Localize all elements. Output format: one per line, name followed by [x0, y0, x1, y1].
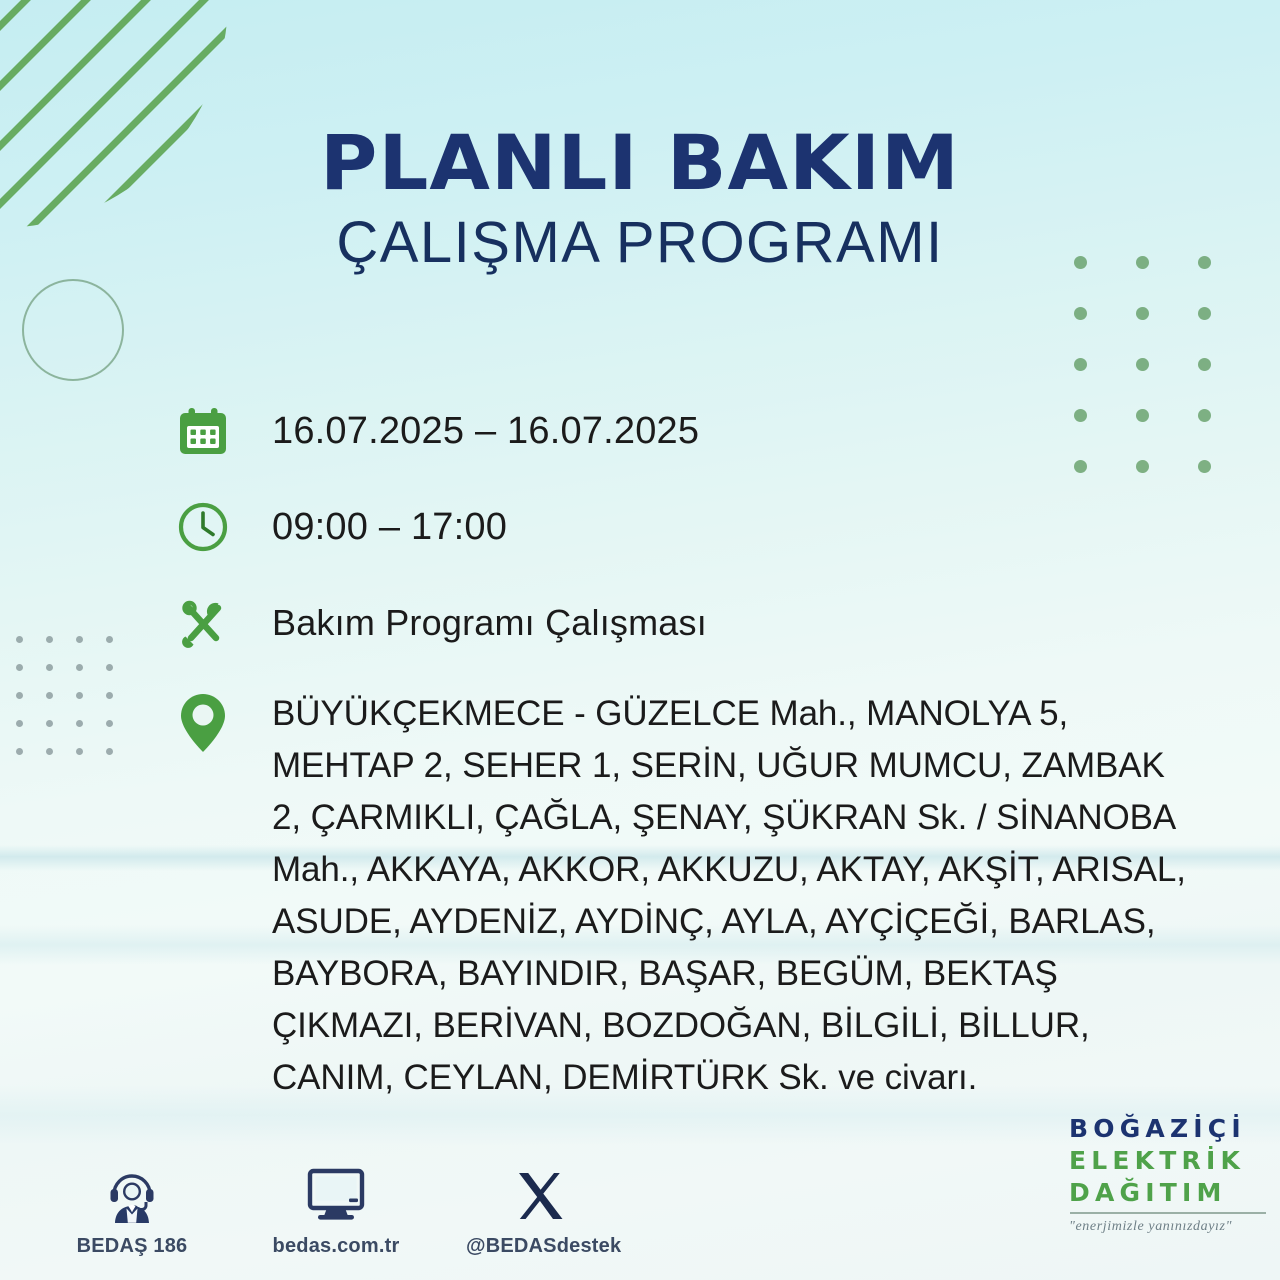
title-main: PLANLI BAKIM: [0, 126, 1280, 200]
address-text: BÜYÜKÇEKMECE - GÜZELCE Mah., MANOLYA 5, …: [234, 688, 1212, 1104]
page-title: PLANLI BAKIM ÇALIŞMA PROGRAMI: [0, 126, 1280, 277]
address-line: BÜYÜKÇEKMECE - GÜZELCE Mah., MANOLYA 5,: [272, 688, 1212, 740]
address-line: ÇIKMAZI, BERİVAN, BOZDOĞAN, BİLGİLİ, BİL…: [272, 1000, 1212, 1052]
footer: BEDAŞ 186 bedas.com.tr: [0, 1138, 1280, 1258]
outage-notice-poster: PLANLI BAKIM ÇALIŞMA PROGRAMI: [0, 0, 1280, 1280]
info-row-work-type: Bakım Programı Çalışması: [172, 592, 1212, 654]
info-row-time: 09:00 – 17:00: [172, 496, 1212, 558]
date-range-text: 16.07.2025 – 16.07.2025: [234, 400, 1212, 462]
contact-x-label: @BEDASdestek: [466, 1235, 614, 1258]
map-pin-icon: [172, 688, 234, 754]
contact-phone[interactable]: BEDAŞ 186: [58, 1161, 206, 1258]
address-line: Mah., AKKAYA, AKKOR, AKKUZU, AKTAY, AKŞİ…: [272, 844, 1212, 896]
brand-line-dagitim: DAĞITIM: [1069, 1180, 1266, 1205]
contact-x-social[interactable]: @BEDASdestek: [466, 1161, 614, 1258]
brand-logo: BOĞAZİÇİ ELEKTRİK DAĞITIM "enerjimizle y…: [1069, 1116, 1266, 1234]
brand-line-bogazici: BOĞAZİÇİ: [1069, 1116, 1266, 1141]
brand-divider: [1070, 1212, 1266, 1214]
address-line: ASUDE, AYDENİZ, AYDİNÇ, AYLA, AYÇİÇEĞİ, …: [272, 896, 1212, 948]
circle-outline-decoration: [22, 279, 124, 381]
work-type-text: Bakım Programı Çalışması: [234, 592, 1212, 654]
address-line: BAYBORA, BAYINDIR, BAŞAR, BEGÜM, BEKTAŞ: [272, 948, 1212, 1000]
outage-info-list: 16.07.2025 – 16.07.2025 09:00 – 17:00: [172, 400, 1212, 1104]
brand-tagline: "enerjimizle yanınızdayız": [1069, 1220, 1266, 1234]
contact-website[interactable]: bedas.com.tr: [262, 1161, 410, 1258]
title-subtitle: ÇALIŞMA PROGRAMI: [0, 210, 1280, 277]
calendar-icon: [172, 400, 234, 462]
dot-grid-decoration-left: [16, 636, 136, 776]
brand-line-elektrik: ELEKTRİK: [1069, 1148, 1266, 1173]
x-twitter-icon: [466, 1161, 614, 1223]
address-line: CANIM, CEYLAN, DEMİRTÜRK Sk. ve civarı.: [272, 1052, 1212, 1104]
address-line: MEHTAP 2, SEHER 1, SERİN, UĞUR MUMCU, ZA…: [272, 740, 1212, 792]
info-row-location: BÜYÜKÇEKMECE - GÜZELCE Mah., MANOLYA 5, …: [172, 688, 1212, 1104]
contact-website-label: bedas.com.tr: [262, 1235, 410, 1258]
time-range-text: 09:00 – 17:00: [234, 496, 1212, 558]
address-line: 2, ÇARMIKLI, ÇAĞLA, ŞENAY, ŞÜKRAN Sk. / …: [272, 792, 1212, 844]
contact-list: BEDAŞ 186 bedas.com.tr: [58, 1161, 614, 1258]
tools-icon: [172, 592, 234, 654]
contact-phone-label: BEDAŞ 186: [58, 1235, 206, 1258]
headset-support-icon: [58, 1161, 206, 1223]
monitor-website-icon: [262, 1161, 410, 1223]
clock-icon: [172, 496, 234, 558]
info-row-date: 16.07.2025 – 16.07.2025: [172, 400, 1212, 462]
